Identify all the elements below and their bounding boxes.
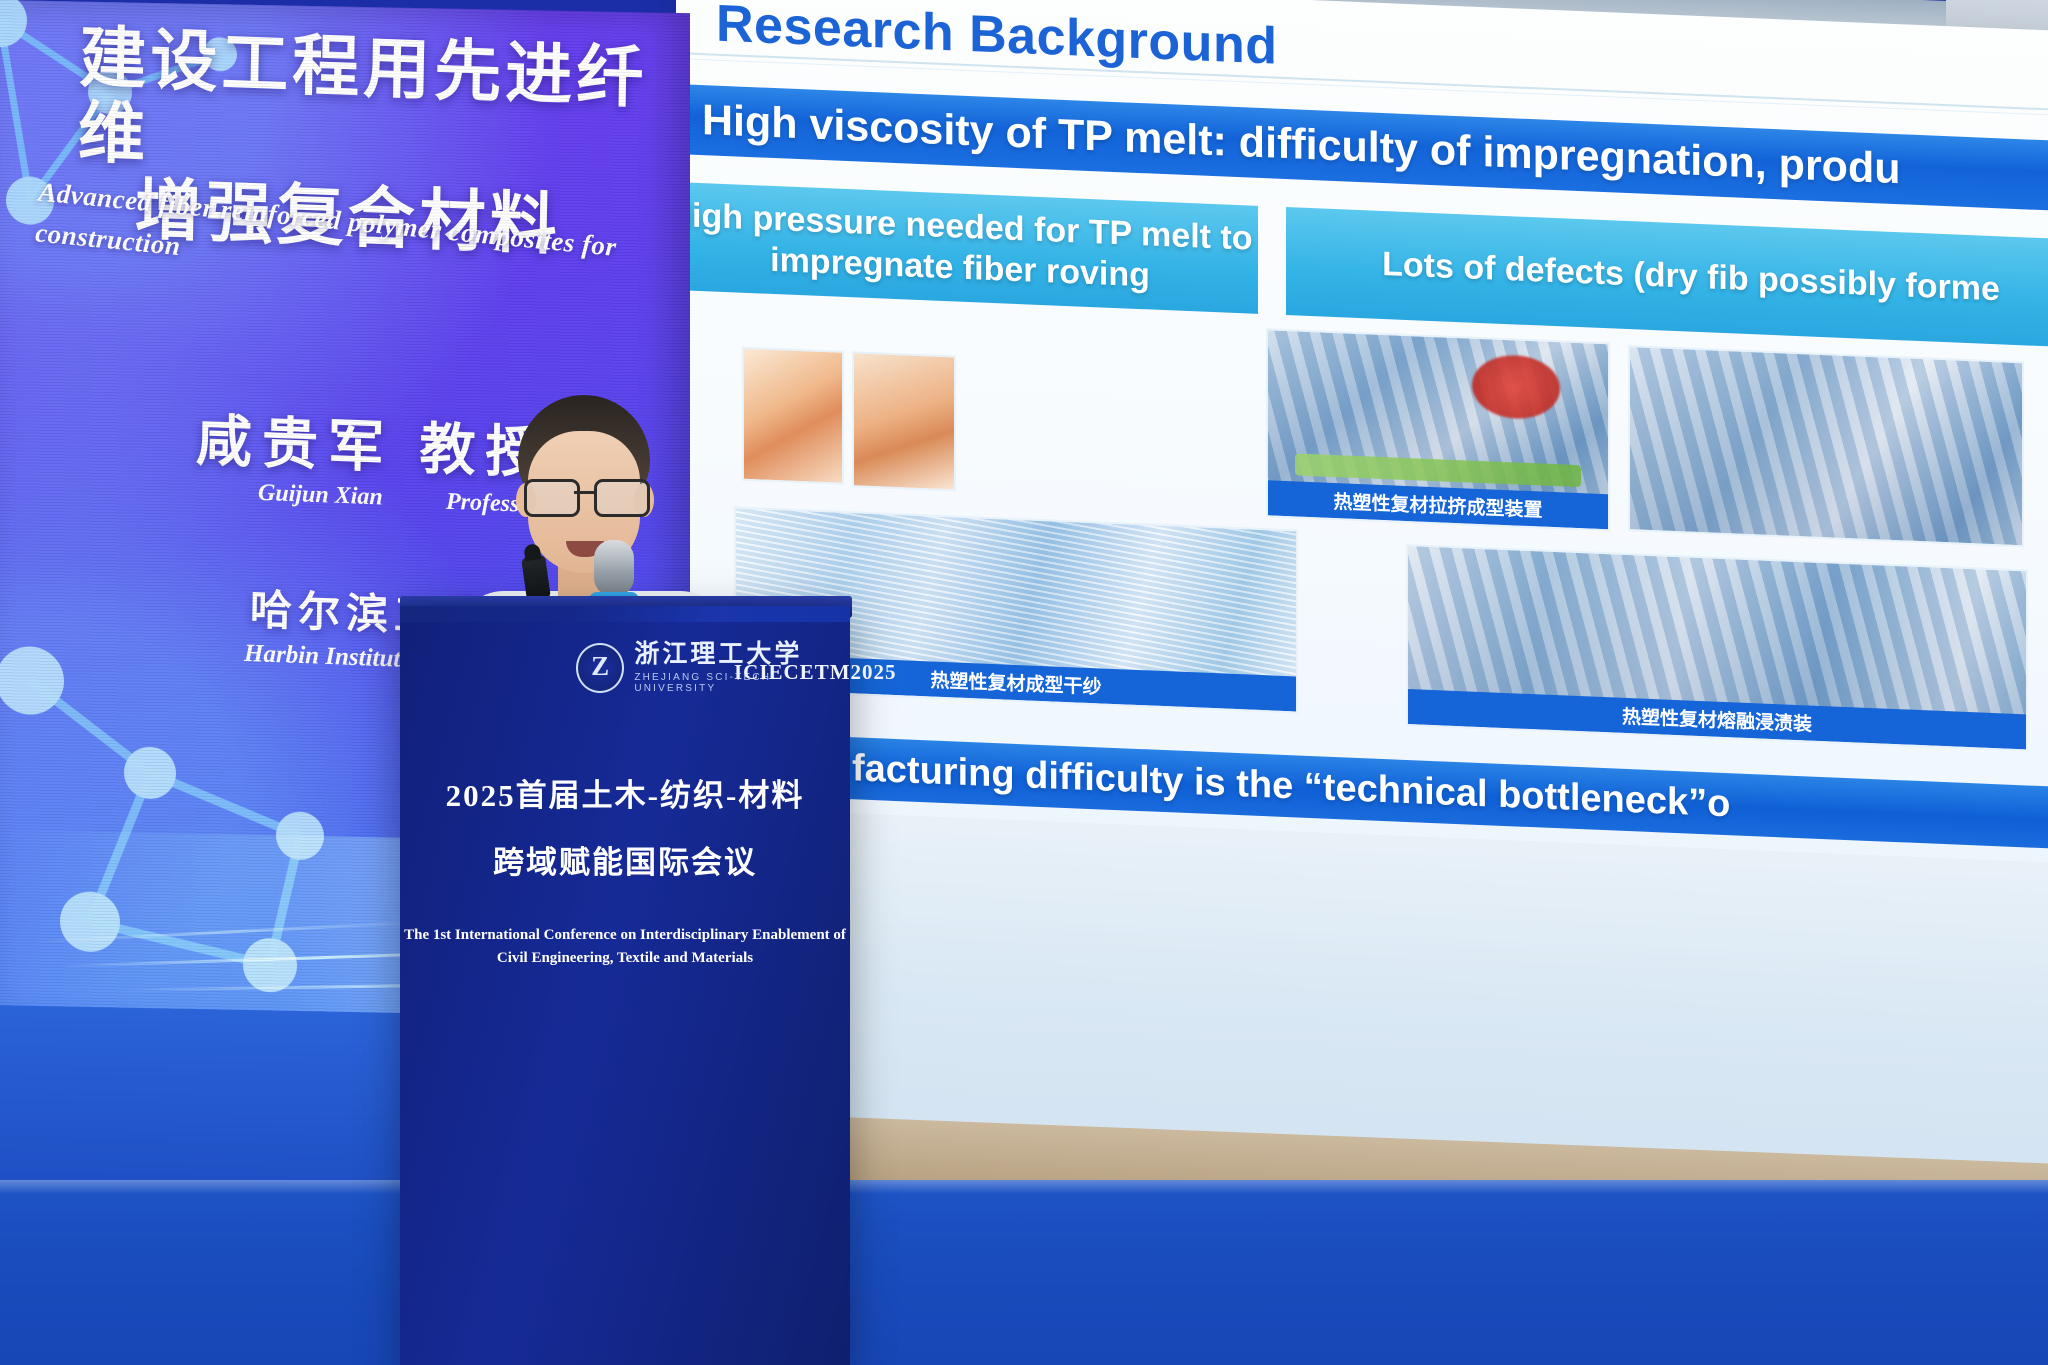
glasses-lens-right (594, 479, 650, 517)
slide-subbox-left: High pressure needed for TP melt to impr… (676, 181, 1258, 313)
microphone-head (594, 540, 634, 596)
slide-bottom-band-text: facturing difficulty is the “technical b… (852, 747, 1730, 826)
backdrop-title-line1: 建设工程用先进纤维 (77, 20, 648, 173)
slide-photo-impregnation: 热塑性复材熔融浸渍装 (1406, 544, 2028, 752)
conference-photo-scene: Research Background High viscosity of TP… (0, 0, 2048, 1365)
event-code: ICIECETM2025 (734, 660, 897, 685)
lectern-front-panel: 浙江理工大学 ZHEJIANG SCI-TECH UNIVERSITY ICIE… (400, 622, 850, 1365)
slide-photo-resin-b (852, 351, 956, 491)
projection-screen: Research Background High viscosity of TP… (676, 0, 2048, 871)
zstu-logo-icon (576, 643, 624, 693)
stage-floor (0, 1180, 2048, 1365)
glasses-bridge (574, 491, 596, 494)
slide-subbox-right-text: Lots of defects (dry fib possibly forme (1382, 244, 2000, 311)
glasses-lens-left (524, 479, 580, 517)
slide-photo-extra (1628, 345, 2024, 547)
slide-primary-band-text: High viscosity of TP melt: difficulty of… (702, 96, 1900, 194)
molecule-graphic-bottom-left (0, 619, 390, 1027)
conference-title-cn-line2: 跨域赋能国际会议 (400, 837, 850, 882)
conference-title-cn-line1: 2025首届土木-纺织-材料 (400, 770, 850, 815)
lectern: 浙江理工大学 ZHEJIANG SCI-TECH UNIVERSITY ICIE… (400, 606, 850, 1365)
conference-title-block: 2025首届土木-纺织-材料 跨域赋能国际会议 The 1st Internat… (400, 770, 850, 971)
backdrop-speaker-name-en: Guijun Xian (258, 480, 383, 512)
slide-photo-resin-a (742, 347, 844, 485)
slide-subbox-left-text: High pressure needed for TP melt to impr… (676, 194, 1258, 301)
slide-subbox-right: Lots of defects (dry fib possibly forme (1286, 207, 2048, 348)
speaker-glasses (522, 479, 648, 513)
conference-title-en: The 1st International Conference on Inte… (400, 924, 850, 971)
slide-photo-pultrusion: 热塑性复材拉挤成型装置 (1266, 328, 1610, 531)
machine-texture-2 (1630, 347, 2022, 545)
